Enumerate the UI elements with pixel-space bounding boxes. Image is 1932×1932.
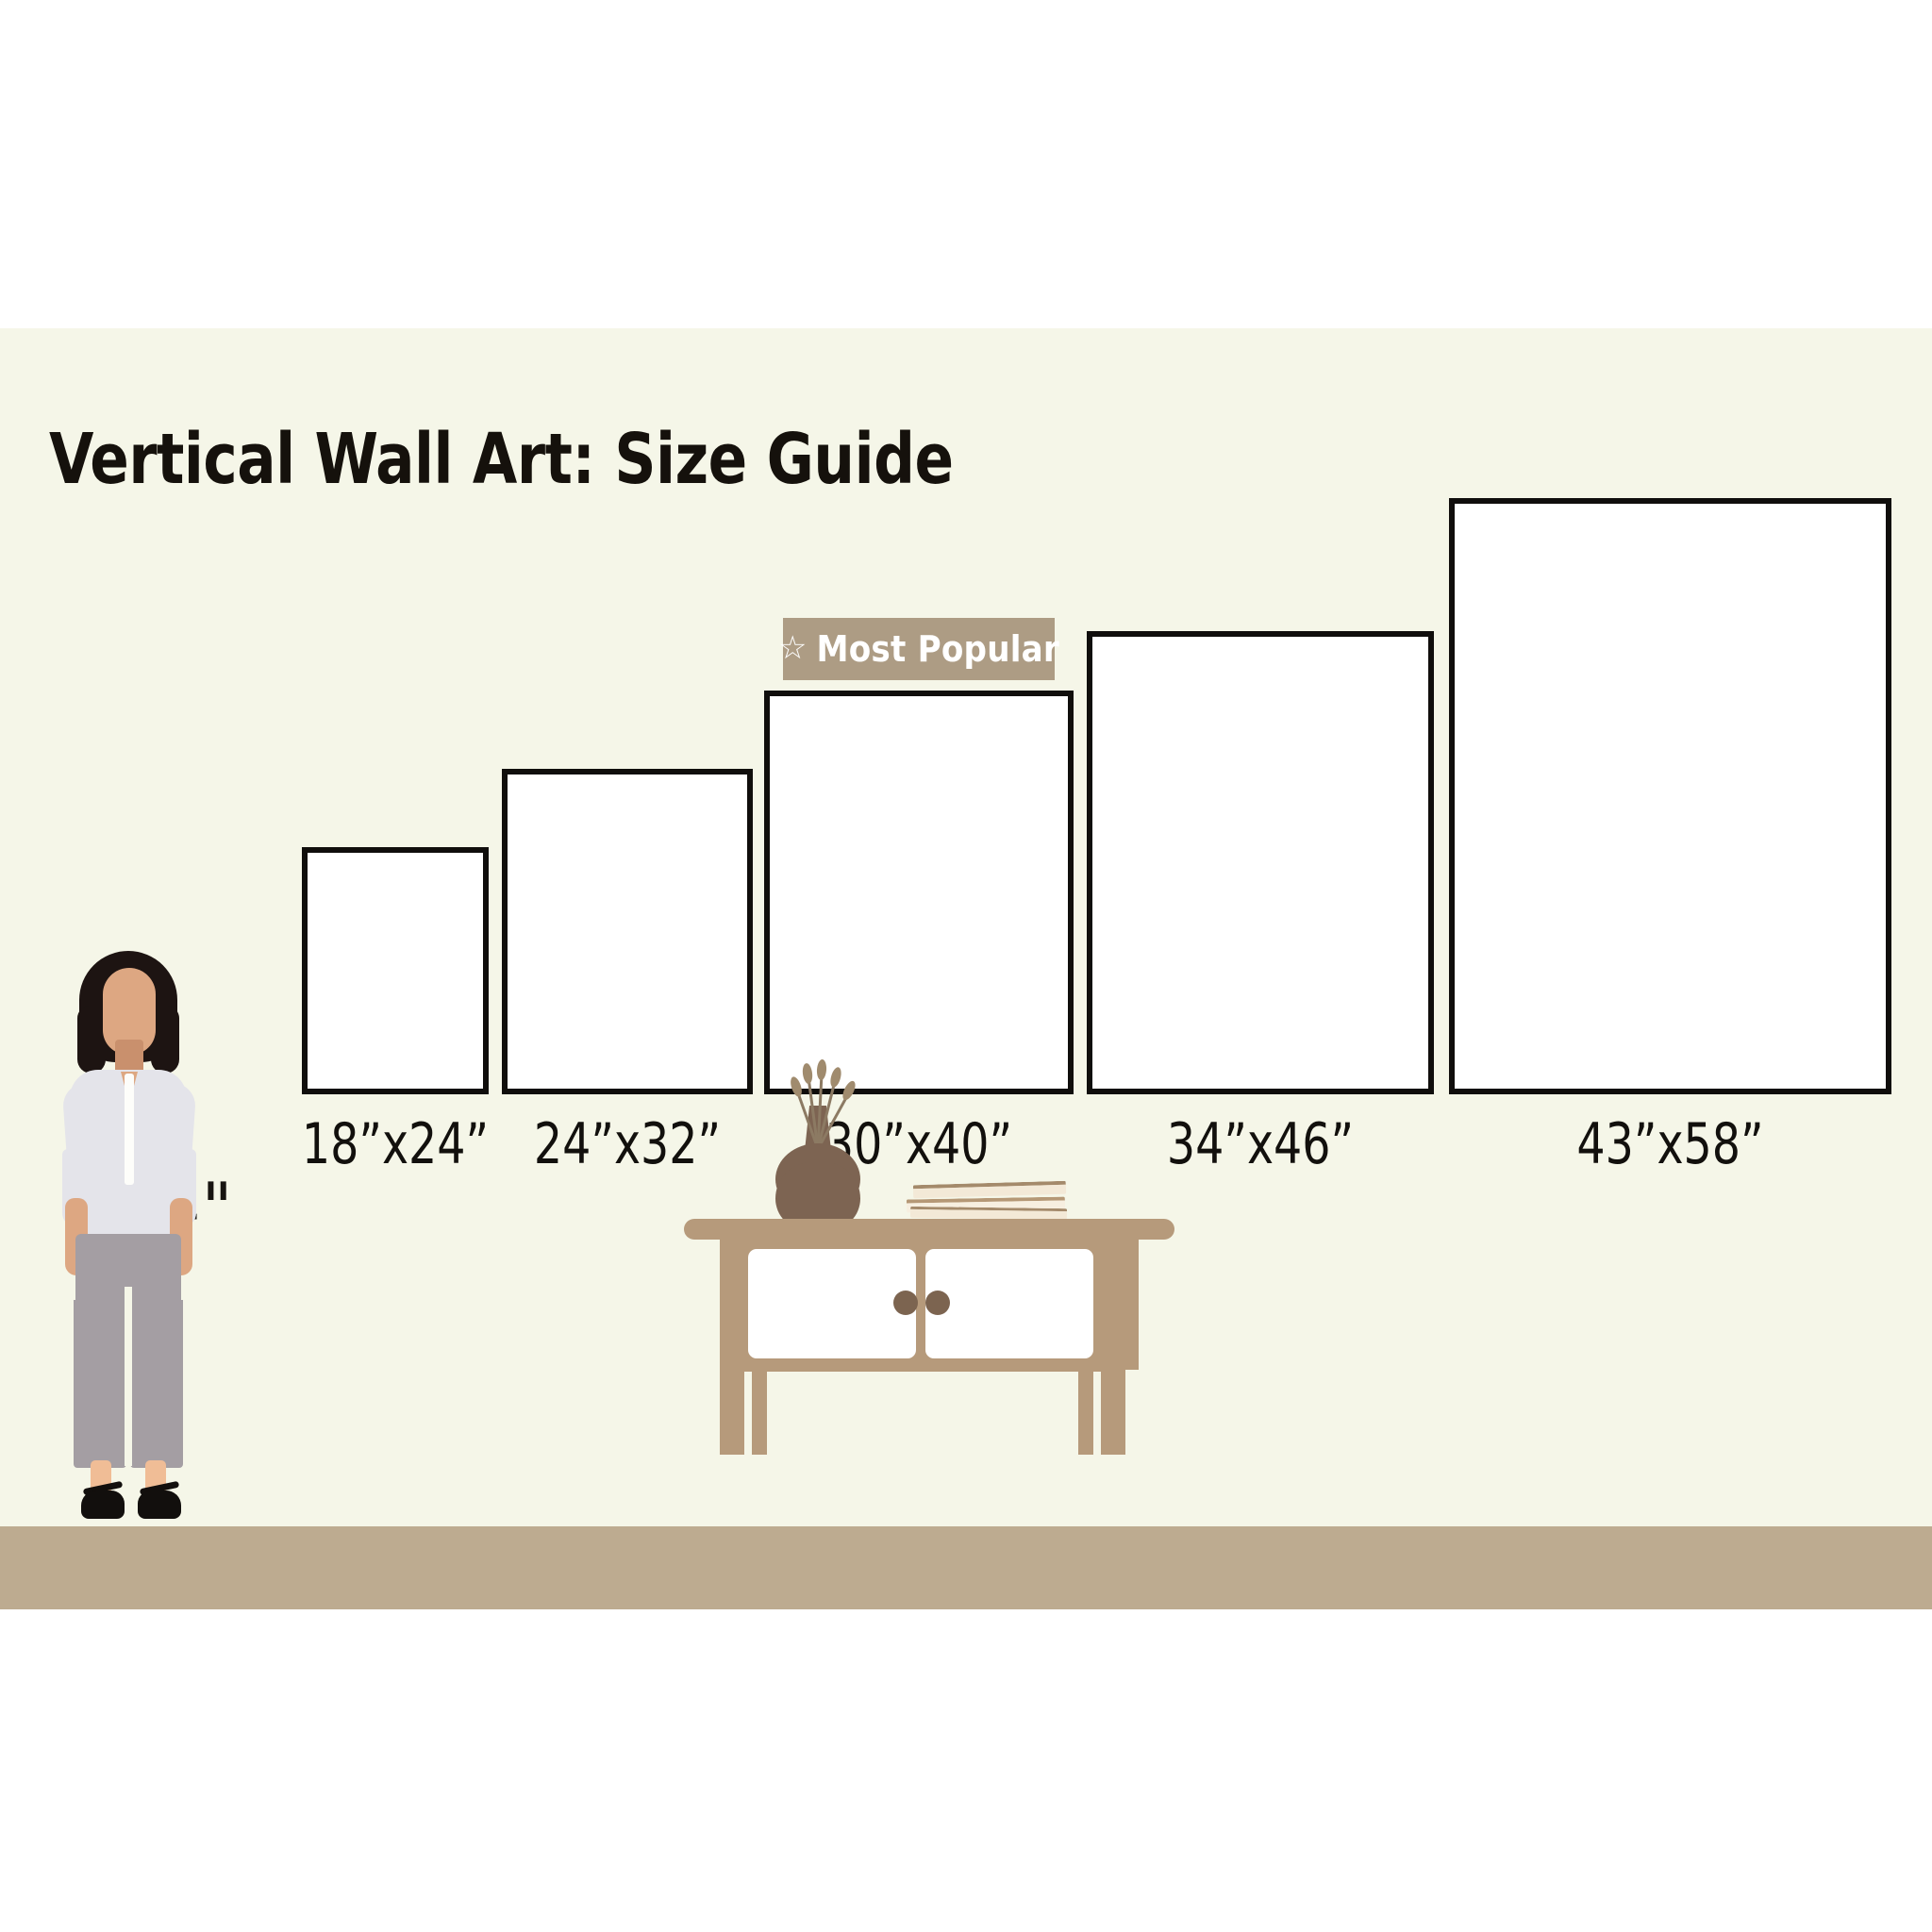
most-popular-label: Most Popular [816, 628, 1059, 670]
art-frame-30x40[interactable] [764, 691, 1074, 1094]
hair-left [77, 1006, 106, 1074]
shoe-right [138, 1491, 181, 1519]
art-frame-34x46[interactable] [1087, 631, 1434, 1094]
console-table [684, 1158, 1174, 1536]
cabinet-apron [744, 1358, 1105, 1372]
art-frame-24x32[interactable] [502, 769, 753, 1094]
size-guide-scene: Vertical Wall Art: Size Guide 5’4" ☆ Mos… [0, 328, 1932, 1609]
book-bottom [910, 1207, 1067, 1220]
dried-stems-icon [742, 1058, 893, 1143]
art-frame-18x24[interactable] [302, 847, 489, 1094]
cabinet-door-left[interactable] [748, 1249, 916, 1358]
most-popular-badge[interactable]: ☆ Most Popular [783, 618, 1055, 680]
table-leg-front-left [720, 1238, 744, 1455]
size-label-5: 43”x58” [1425, 1111, 1914, 1177]
trouser-leg-left [74, 1300, 126, 1468]
shoe-left [81, 1491, 125, 1519]
page-title: Vertical Wall Art: Size Guide [49, 419, 954, 500]
book-top [913, 1181, 1066, 1199]
table-top-surface [684, 1219, 1174, 1240]
star-outline-icon: ☆ [778, 632, 807, 664]
person-scale-reference [57, 951, 255, 1538]
table-leg-front-right [1101, 1238, 1125, 1455]
art-frame-43x58[interactable] [1449, 498, 1891, 1094]
trouser-leg-right [130, 1300, 183, 1468]
floor-band [0, 1526, 1932, 1609]
trouser-leg-gap [125, 1287, 132, 1466]
cabinet-knob-left[interactable] [893, 1291, 918, 1315]
cabinet-door-right[interactable] [925, 1249, 1093, 1358]
cabinet-knob-right[interactable] [925, 1291, 950, 1315]
blouse-placket [125, 1074, 134, 1185]
